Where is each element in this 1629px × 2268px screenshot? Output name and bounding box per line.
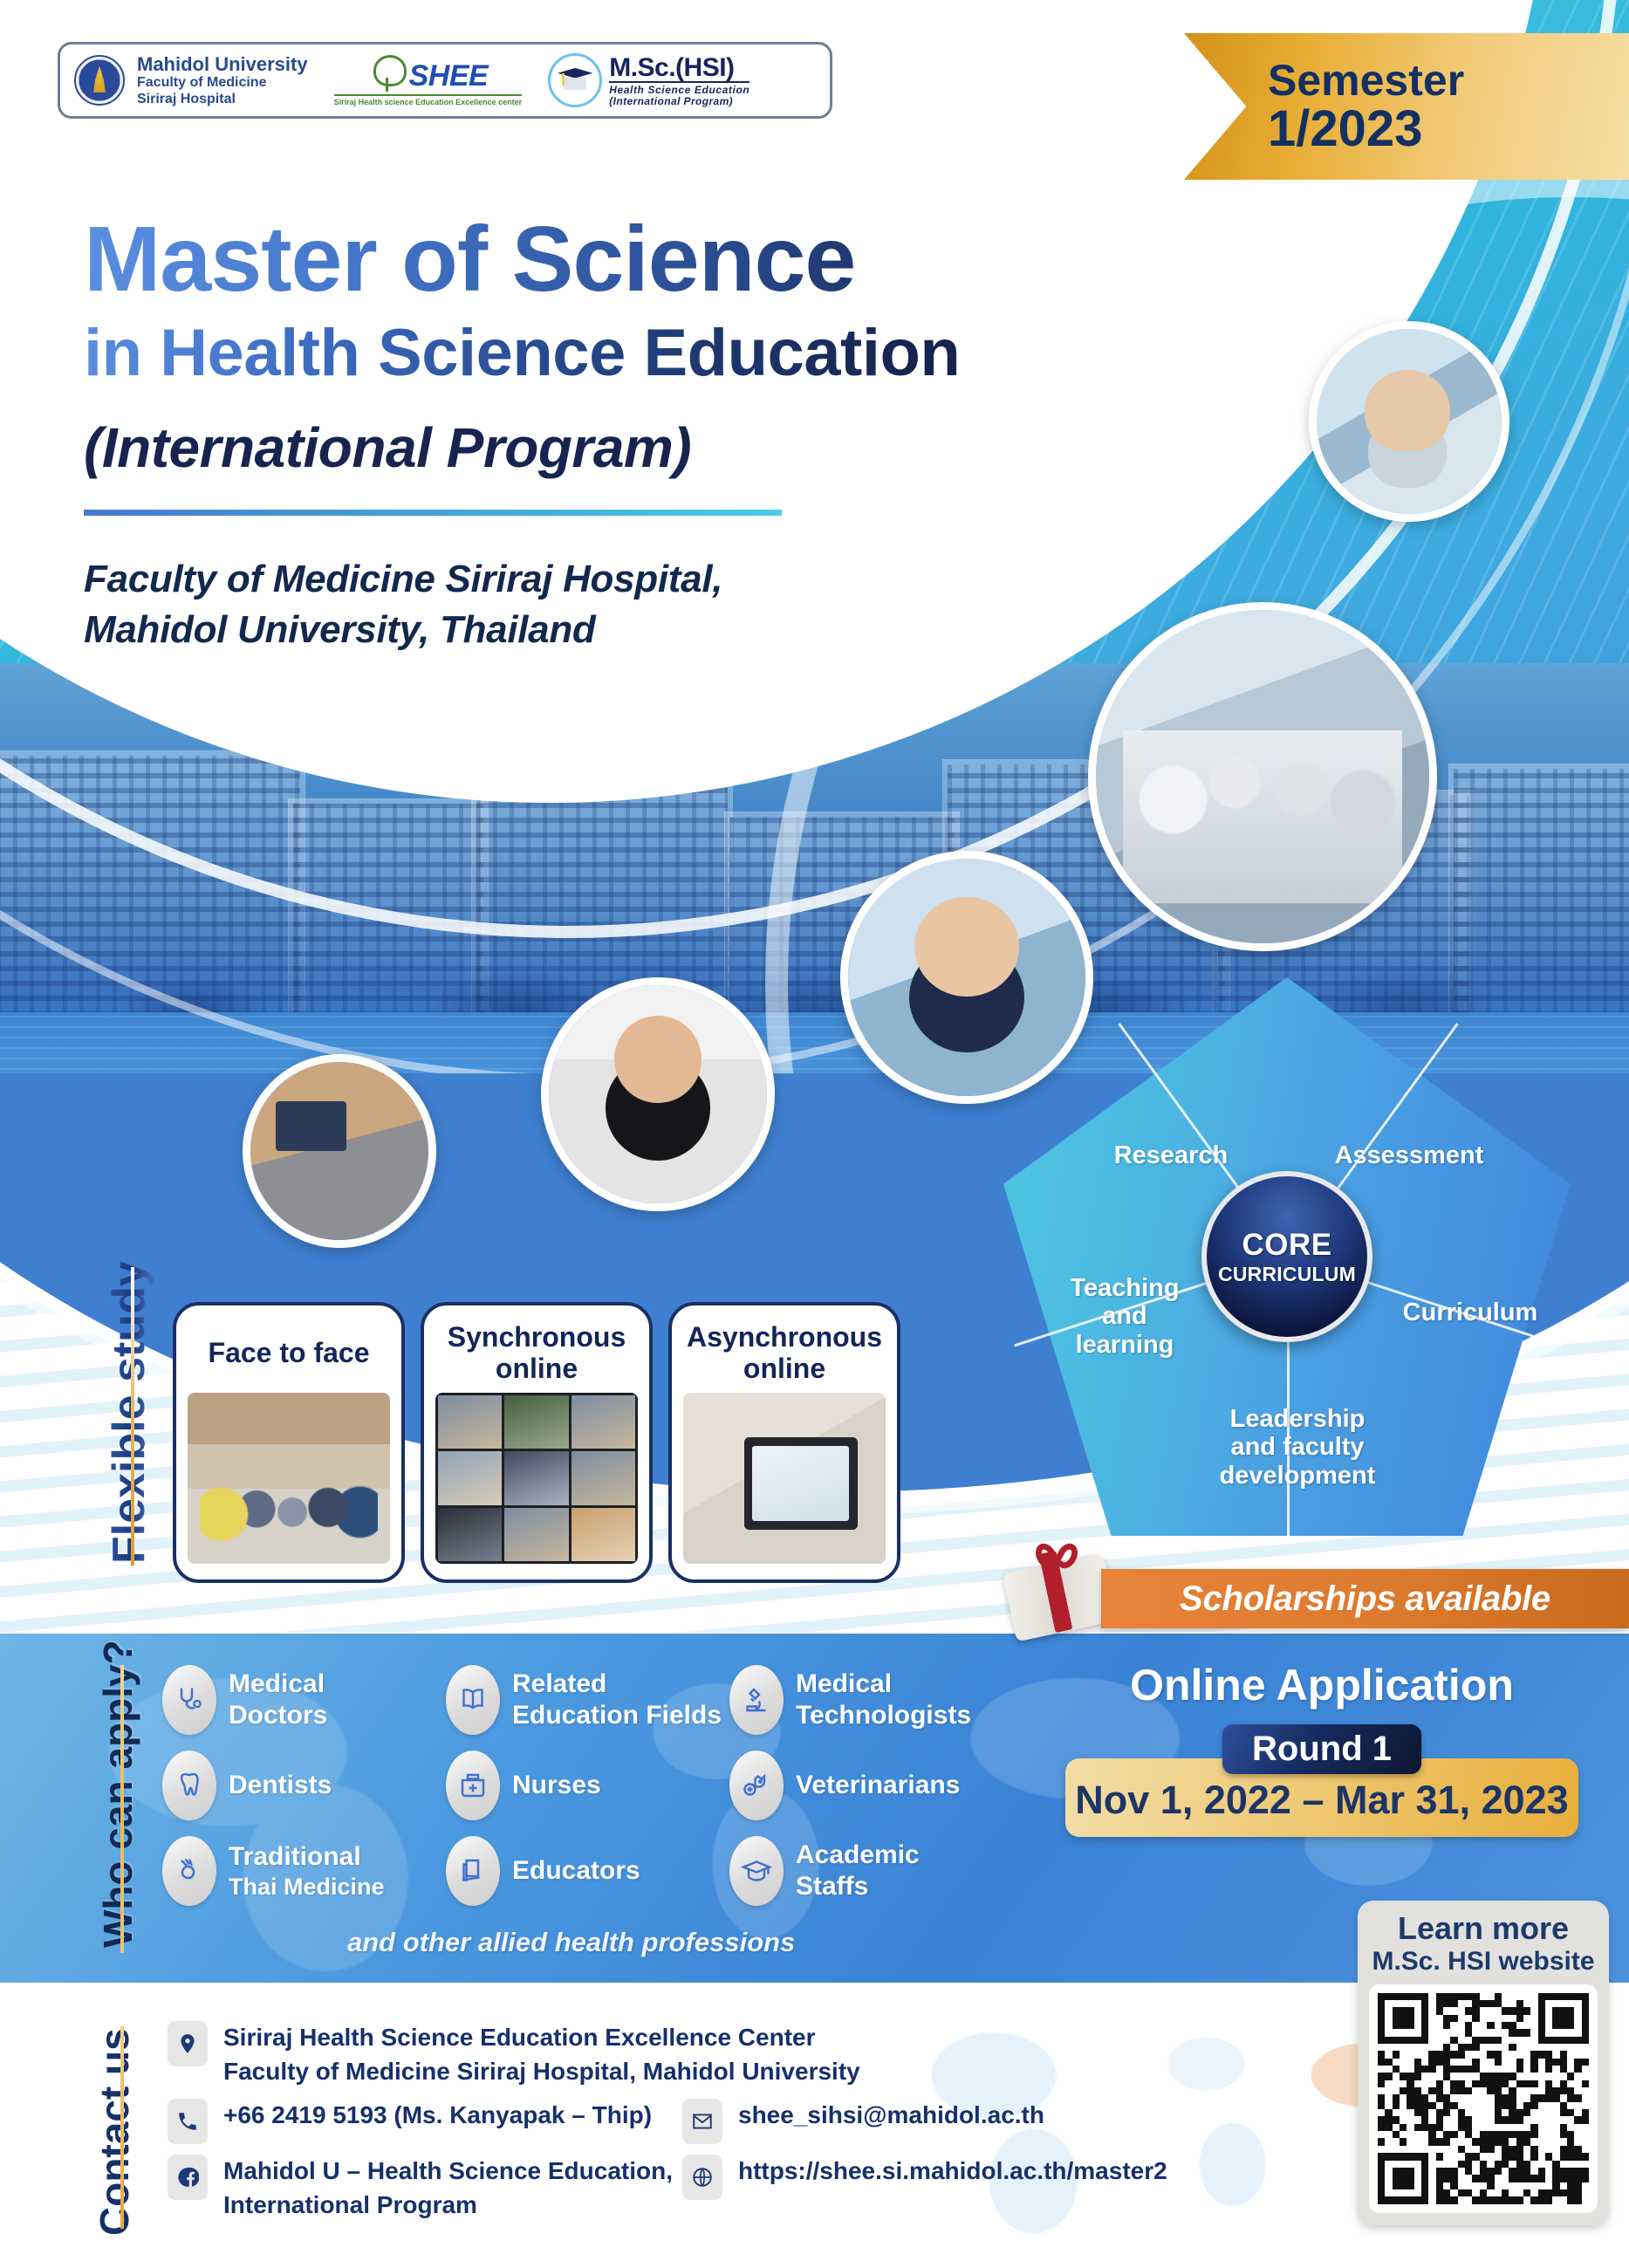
shee-wordmark: SHEE [409, 59, 489, 93]
study-card-title: Asynchronous online [684, 1319, 885, 1388]
contact-row-facebook-website: Mahidol U – Health Science Education, In… [168, 2155, 1215, 2222]
msc-line2: Health Science Education [609, 81, 749, 96]
apply-item-dentists: Dentists [162, 1751, 446, 1820]
flexible-study-rule [131, 1267, 134, 1566]
books-icon [446, 1836, 500, 1906]
address-text: Siriraj Health Science Education Excelle… [223, 2021, 860, 2088]
core-label-line2: CURRICULUM [1218, 1263, 1356, 1286]
tooth-icon [162, 1751, 216, 1820]
core-curriculum-diagram: Research Assessment Teachingandlearning … [1003, 977, 1571, 1536]
email-icon [682, 2099, 722, 2144]
contact-row-address: Siriraj Health Science Education Excelle… [168, 2021, 1215, 2088]
phone-icon [168, 2099, 208, 2144]
photo-lecture-room [243, 1054, 436, 1248]
graduation-cap-icon [729, 1836, 784, 1906]
graduation-cap-badge-icon [548, 53, 602, 107]
scholarships-banner: Scholarships available [1101, 1569, 1629, 1628]
apply-item-educators: Educators [446, 1836, 729, 1906]
facebook-icon [168, 2155, 208, 2200]
mahidol-line3: Siriraj Hospital [137, 92, 308, 107]
mahidol-line1: Mahidol University [137, 53, 308, 75]
apply-item-veterinarians: Veterinarians [729, 1751, 1022, 1820]
msc-hsi-logo: M.Sc.(HSI) Health Science Education (Int… [548, 53, 749, 107]
who-can-apply-grid: MedicalDoctors RelatedEducation Fields M… [162, 1665, 1022, 1906]
apply-item-label: Nurses [512, 1770, 601, 1801]
phone-text[interactable]: +66 2419 5193 (Ms. Kanyapak – Thip) [223, 2099, 652, 2144]
mahidol-seal-icon [74, 55, 125, 106]
website-text[interactable]: https://shee.si.mahidol.ac.th/master2 [738, 2155, 1167, 2200]
learn-more-subtitle: M.Sc. HSI website [1366, 1946, 1600, 1977]
tablet-elearning-photo [683, 1393, 886, 1564]
study-card-synchronous-online[interactable]: Synchronous online [421, 1302, 653, 1583]
logo-divider [320, 56, 322, 105]
apply-item-medical-doctors: MedicalDoctors [162, 1665, 446, 1735]
apply-item-related-education-fields: RelatedEducation Fields [446, 1665, 729, 1735]
study-card-asynchronous-online[interactable]: Asynchronous online [668, 1302, 900, 1583]
pentagon-label-assessment: Assessment [1309, 1141, 1509, 1169]
globe-icon [682, 2155, 722, 2200]
headline-divider [84, 510, 782, 516]
pentagon-label-curriculum: Curriculum [1379, 1298, 1562, 1326]
mahidol-line2: Faculty of Medicine [137, 75, 308, 91]
apply-item-academic-staffs: AcademicStaffs [729, 1836, 1022, 1906]
apply-item-label: Veterinarians [796, 1770, 960, 1801]
apply-item-traditional-thai-medicine: TraditionalThai Medicine [162, 1836, 446, 1906]
photo-faculty-portrait-female [541, 977, 775, 1211]
page-title: Master of Science [84, 213, 1122, 305]
study-card-title: Face to face [209, 1319, 370, 1388]
open-book-icon [446, 1665, 500, 1735]
semester-value: 1/2023 [1268, 103, 1629, 154]
location-pin-icon [168, 2021, 208, 2066]
faculty-line-2: Mahidol University, Thailand [84, 605, 1122, 655]
application-round-badge: Round 1 [1222, 1724, 1421, 1774]
shee-logo: SHEE Siriraj Health science Education Ex… [334, 55, 523, 106]
address-line-1: Siriraj Health Science Education Excelle… [223, 2024, 816, 2051]
address-line-2: Faculty of Medicine Siriraj Hospital, Ma… [223, 2058, 860, 2085]
mahidol-university-text: Mahidol University Faculty of Medicine S… [137, 53, 308, 107]
who-can-apply-rule [120, 1665, 124, 1953]
apply-item-label: MedicalDoctors [229, 1668, 327, 1731]
dog-icon [729, 1751, 784, 1820]
study-card-face-to-face[interactable]: Face to face [173, 1302, 405, 1583]
apply-item-nurses: Nurses [446, 1751, 729, 1820]
core-curriculum-circle: CORE CURRICULUM [1201, 1171, 1372, 1342]
stethoscope-icon [162, 1665, 216, 1735]
apply-item-label: AcademicStaffs [796, 1840, 920, 1902]
classroom-photo [188, 1393, 390, 1564]
email-text[interactable]: shee_sihsi@mahidol.ac.th [738, 2099, 1044, 2144]
page-subtitle: in Health Science Education [84, 318, 1122, 389]
program-type: (International Program) [84, 415, 1122, 480]
apply-item-label: TraditionalThai Medicine [229, 1841, 385, 1901]
contact-us-label: Contact us [91, 2028, 138, 2236]
microscope-icon [729, 1665, 784, 1735]
nurse-cap-icon [446, 1751, 500, 1820]
logo-divider-2 [534, 56, 536, 105]
learn-more-title: Learn more [1366, 1911, 1600, 1946]
semester-label: Semester [1268, 58, 1629, 103]
msc-line3: (International Program) [609, 96, 749, 107]
scholarships-text: Scholarships available [1180, 1579, 1550, 1619]
core-label-line1: CORE [1242, 1228, 1331, 1263]
who-can-apply-label: Who can apply? [94, 1640, 141, 1948]
online-application-block: Online Application Round 1 Nov 1, 2022 –… [1043, 1660, 1601, 1837]
apply-item-label: MedicalTechnologists [796, 1668, 971, 1731]
shee-subtitle: Siriraj Health science Education Excelle… [334, 94, 523, 106]
photo-group-discussion [1088, 602, 1437, 951]
faculty-line-1: Faculty of Medicine Siriraj Hospital, [84, 554, 1122, 605]
apply-item-medical-technologists: MedicalTechnologists [729, 1665, 1022, 1735]
apply-item-label: Educators [512, 1855, 640, 1887]
contact-details: Siriraj Health Science Education Excelle… [168, 2021, 1215, 2233]
learn-more-card[interactable]: Learn more M.Sc. HSI website [1358, 1901, 1609, 2225]
herbal-pouch-icon [162, 1836, 216, 1906]
study-card-title: Synchronous online [436, 1319, 637, 1388]
tree-icon [368, 55, 407, 93]
pentagon-label-research: Research [1084, 1141, 1258, 1169]
allied-health-note: and other allied health professions [347, 1927, 795, 1958]
poster-root: Mahidol University Faculty of Medicine S… [0, 0, 1629, 2268]
facebook-text[interactable]: Mahidol U – Health Science Education, In… [223, 2155, 673, 2222]
contact-rule [120, 2026, 124, 2229]
photo-student-laptop [1309, 321, 1509, 522]
study-mode-cards: Face to face Synchronous online Asynchro… [173, 1302, 900, 1583]
contact-row-phone-email: +66 2419 5193 (Ms. Kanyapak – Thip) shee… [168, 2099, 1215, 2144]
pentagon-label-leadership: Leadershipand facultydevelopment [1188, 1405, 1407, 1490]
semester-ribbon: Semester 1/2023 [1184, 33, 1629, 180]
faculty-affiliation: Faculty of Medicine Siriraj Hospital, Ma… [84, 554, 1122, 655]
msc-title: M.Sc.(HSI) [609, 54, 749, 82]
facebook-line-2: International Program [223, 2191, 477, 2218]
online-application-title: Online Application [1130, 1660, 1514, 1710]
facebook-line-1: Mahidol U – Health Science Education, [223, 2157, 673, 2184]
video-call-grid-photo [435, 1393, 638, 1564]
headline-block: Master of Science in Health Science Educ… [84, 213, 1122, 655]
qr-code[interactable] [1369, 1984, 1598, 2213]
apply-item-label: Dentists [229, 1770, 332, 1801]
apply-item-label: RelatedEducation Fields [512, 1668, 722, 1731]
pentagon-label-teaching-and-learning: Teachingandlearning [1051, 1274, 1199, 1359]
flexible-study-label: Flexible study [103, 1261, 155, 1564]
logo-bar: Mahidol University Faculty of Medicine S… [58, 42, 832, 119]
